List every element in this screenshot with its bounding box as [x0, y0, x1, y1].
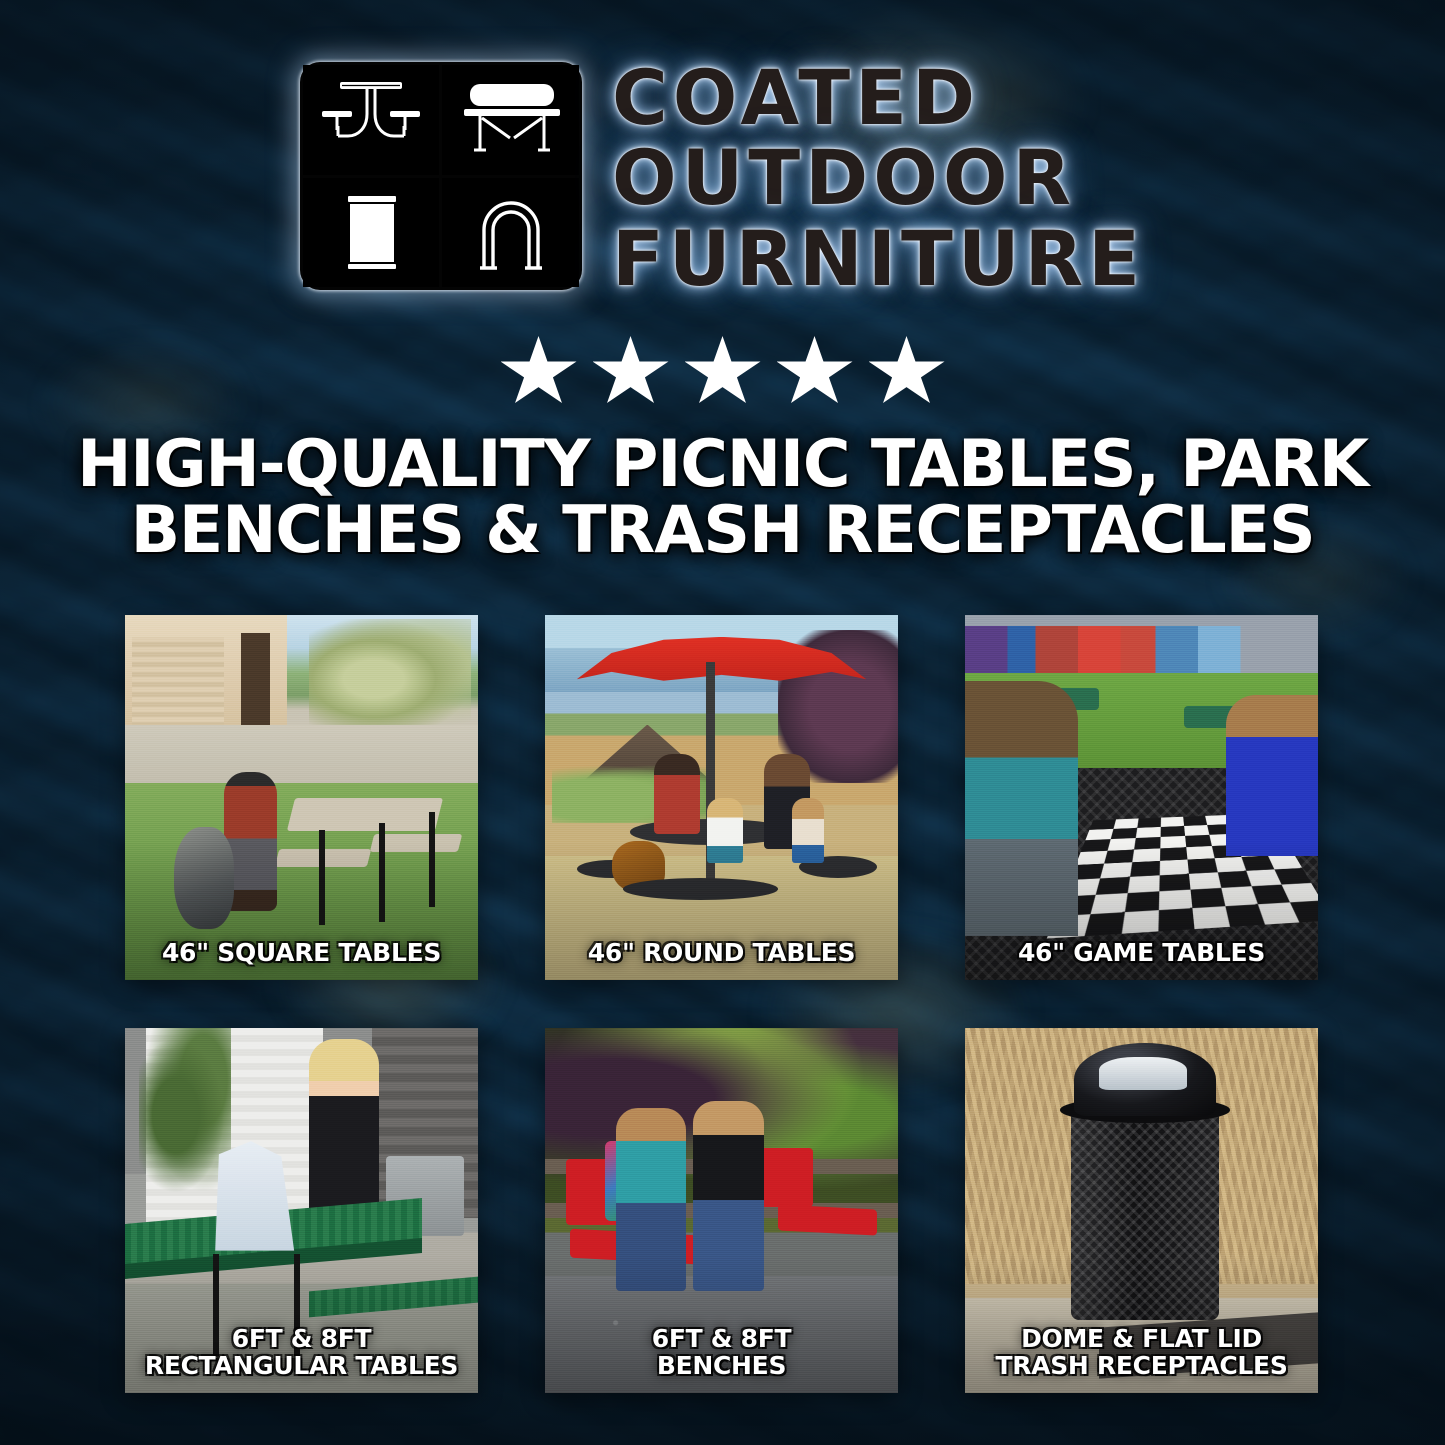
product-caption-round-tables: 46" ROUND TABLES — [551, 940, 892, 967]
caption-line: RECTANGULAR TABLES — [131, 1353, 472, 1380]
star-icon — [685, 336, 761, 408]
arch-bike-rack-icon — [442, 178, 579, 288]
brand-line-2: OUTDOOR — [612, 144, 1076, 212]
brand-wordmark: COATED OUTDOOR FURNITURE — [612, 62, 1145, 293]
product-caption-square-tables: 46" SQUARE TABLES — [131, 940, 472, 967]
brand-line-3: FURNITURE — [612, 225, 1145, 293]
caption-line: 46" SQUARE TABLES — [131, 940, 472, 967]
product-card-square-tables[interactable]: 46" SQUARE TABLES — [125, 615, 478, 980]
caption-line: TRASH RECEPTACLES — [971, 1353, 1312, 1380]
product-caption-trash-receptacles: DOME & FLAT LID TRASH RECEPTACLES — [971, 1326, 1312, 1379]
product-card-benches[interactable]: 6FT & 8FT BENCHES — [545, 1028, 898, 1393]
page-title: HIGH-QUALITY PICNIC TABLES, PARK BENCHES… — [60, 432, 1385, 565]
trash-receptacle-icon — [303, 178, 440, 288]
product-grid: 46" SQUARE TABLES 46" ROUND TABLES — [125, 615, 1323, 1393]
star-icon — [869, 336, 945, 408]
caption-line: BENCHES — [551, 1353, 892, 1380]
logo-mark-icon — [300, 62, 582, 290]
brand-line-1: COATED — [612, 64, 980, 132]
brand-logo[interactable]: COATED OUTDOOR FURNITURE — [0, 62, 1445, 293]
star-icon — [501, 336, 577, 408]
caption-line: 6FT & 8FT — [551, 1326, 892, 1353]
star-icon — [777, 336, 853, 408]
caption-line: DOME & FLAT LID — [971, 1326, 1312, 1353]
headline-line-2: BENCHES & TRASH RECEPTACLES — [60, 498, 1385, 564]
product-caption-game-tables: 46" GAME TABLES — [971, 940, 1312, 967]
bench-icon — [442, 65, 579, 175]
product-caption-benches: 6FT & 8FT BENCHES — [551, 1326, 892, 1379]
product-card-rectangular-tables[interactable]: 6FT & 8FT RECTANGULAR TABLES — [125, 1028, 478, 1393]
promo-poster: COATED OUTDOOR FURNITURE HIGH-QUALITY PI… — [0, 0, 1445, 1445]
product-card-trash-receptacles[interactable]: DOME & FLAT LID TRASH RECEPTACLES — [965, 1028, 1318, 1393]
star-icon — [593, 336, 669, 408]
caption-line: 46" GAME TABLES — [971, 940, 1312, 967]
product-card-game-tables[interactable]: 46" GAME TABLES — [965, 615, 1318, 980]
picnic-table-icon — [303, 65, 440, 175]
caption-line: 6FT & 8FT — [131, 1326, 472, 1353]
product-card-round-tables[interactable]: 46" ROUND TABLES — [545, 615, 898, 980]
headline-line-1: HIGH-QUALITY PICNIC TABLES, PARK — [77, 427, 1368, 502]
product-caption-rectangular-tables: 6FT & 8FT RECTANGULAR TABLES — [131, 1326, 472, 1379]
rating-stars — [0, 336, 1445, 408]
caption-line: 46" ROUND TABLES — [551, 940, 892, 967]
